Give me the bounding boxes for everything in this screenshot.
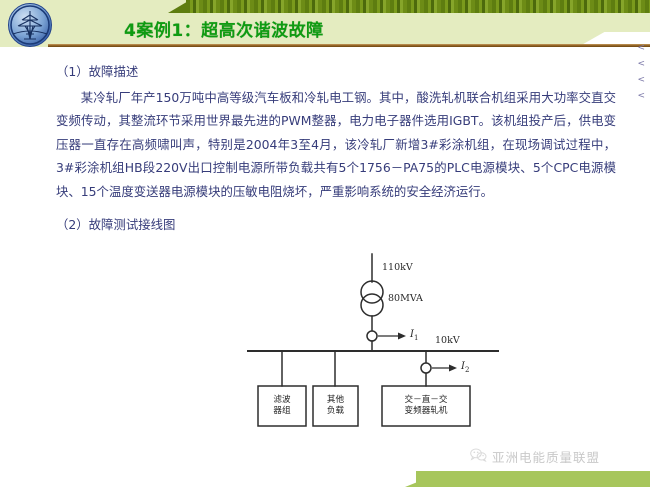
edge-chevron-4[interactable]: < <box>637 92 645 101</box>
label-current-i1-subscript: 1 <box>414 334 418 342</box>
edge-chevron-2[interactable]: < <box>637 60 645 69</box>
box-label-inverter-mill-line1: 交－直－交 <box>382 395 470 406</box>
footer-bar <box>0 471 650 487</box>
box-label-other-load-line2: 负载 <box>313 406 358 417</box>
box-label-filter-bank-line2: 器组 <box>258 406 306 417</box>
header-divider <box>48 44 650 47</box>
label-10kv: 10kV <box>435 335 460 346</box>
page-title: 4案例1：超高次谐波故障 <box>124 16 324 41</box>
label-current-i2-subscript: 2 <box>465 366 469 374</box>
box-label-inverter-mill: 交－直－交 变频器轧机 <box>382 395 470 417</box>
watermark: 亚洲电能质量联盟 <box>470 447 600 466</box>
slide-body: （1）故障描述 某冷轧厂年产150万吨中高等级汽车板和冷轧电工钢。其中，酸洗轧机… <box>56 60 616 237</box>
box-label-filter-bank: 滤波 器组 <box>258 395 306 417</box>
box-label-inverter-mill-line2: 变频器轧机 <box>382 406 470 417</box>
fault-test-wiring-diagram: 110kV 80MVA I1 10kV I2 滤波 器组 其他 负载 交－直－交… <box>230 250 520 435</box>
label-current-i1: I1 <box>410 329 418 342</box>
section-heading-2: （2）故障测试接线图 <box>56 213 616 237</box>
box-label-other-load: 其他 负载 <box>313 395 358 417</box>
header-stripe-decoration <box>186 0 650 13</box>
wechat-icon <box>470 447 487 466</box>
watermark-text: 亚洲电能质量联盟 <box>492 447 600 466</box>
label-current-i2: I2 <box>461 361 469 374</box>
edge-chevron-1[interactable]: < <box>637 44 645 53</box>
slide-root: 4案例1：超高次谐波故障 < < < < （1）故障描述 某冷轧厂年产150万吨… <box>0 0 650 487</box>
section-heading-1: （1）故障描述 <box>56 60 616 84</box>
fault-description-paragraph: 某冷轧厂年产150万吨中高等级汽车板和冷轧电工钢。其中，酸洗轧机联合机组采用大功… <box>56 86 616 204</box>
transmission-tower-logo-icon <box>8 3 52 47</box>
label-80mva: 80MVA <box>388 293 423 304</box>
box-label-filter-bank-line1: 滤波 <box>258 395 306 406</box>
edge-chevron-3[interactable]: < <box>637 76 645 85</box>
box-label-other-load-line1: 其他 <box>313 395 358 406</box>
label-110kv: 110kV <box>382 262 413 273</box>
